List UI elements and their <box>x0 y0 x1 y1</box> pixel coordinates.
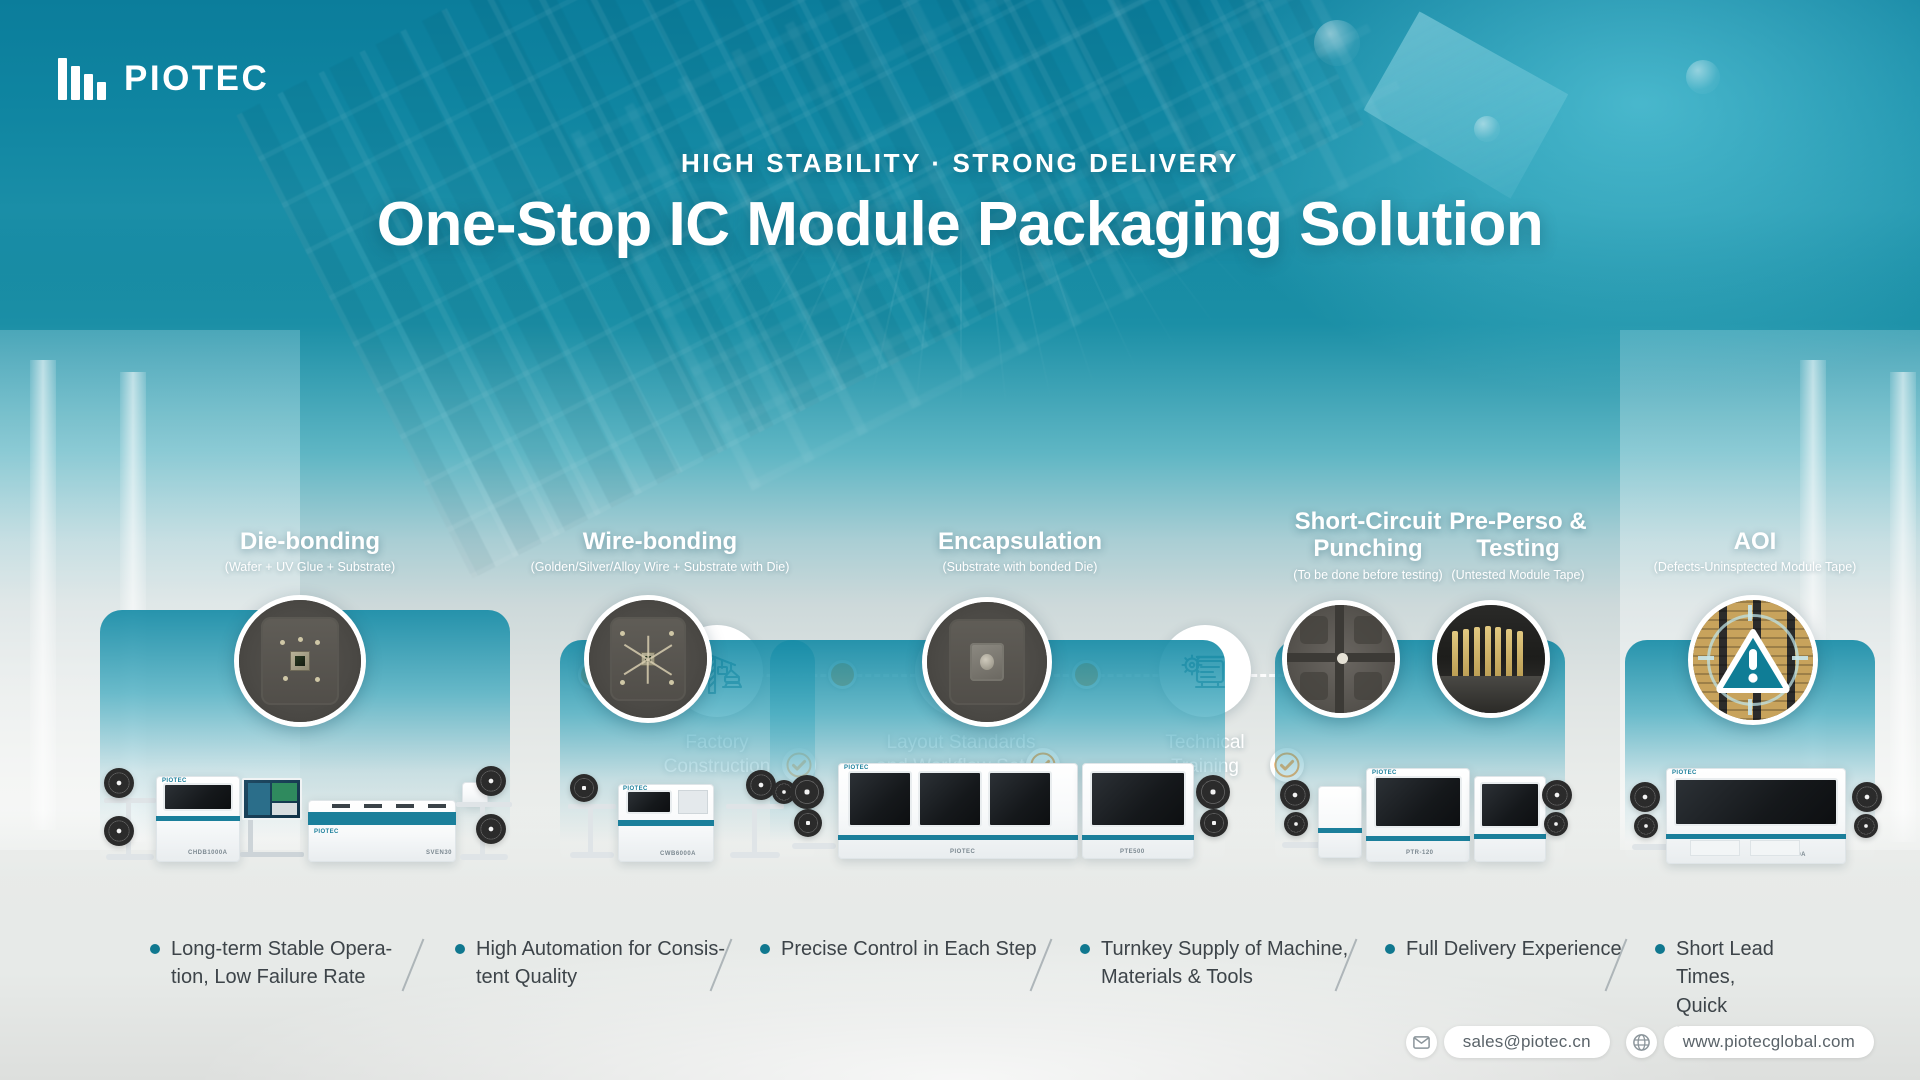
station-subtitle: (Substrate with bonded Die) <box>870 560 1170 576</box>
station-photo-wire-bonding <box>584 595 712 723</box>
bokeh-bubble <box>1686 60 1720 94</box>
machine-die-bonding-line: PIOTEC CHDB1000A PIOTEC SVEN30 <box>96 750 516 880</box>
benefit-item: Long-term Stable Opera- tion, Low Failur… <box>150 935 392 992</box>
station-title: Pre-Perso & Testing <box>1418 508 1618 563</box>
reel-icon <box>746 770 776 800</box>
reel-icon <box>1634 814 1658 838</box>
benefit-item: Turnkey Supply of Machine, Materials & T… <box>1080 935 1348 992</box>
station-heading-die-bonding: Die-bonding (Wafer + UV Glue + Substrate… <box>180 528 440 576</box>
station-heading-pre-perso-testing: Pre-Perso & Testing (Untested Module Tap… <box>1418 508 1618 583</box>
benefit-line: High Automation for Consis- <box>476 935 725 963</box>
benefit-line: Full Delivery Experience <box>1406 935 1622 963</box>
reel-icon <box>1544 812 1568 836</box>
bullet-dot-icon <box>1080 944 1090 954</box>
reel-icon <box>104 768 134 798</box>
machine-model-label: CWB6000A <box>660 851 696 857</box>
brand-name: PIOTEC <box>124 59 269 99</box>
bullet-dot-icon <box>760 944 770 954</box>
reel-icon <box>1542 780 1572 810</box>
footer-email[interactable]: sales@piotec.cn <box>1406 1026 1610 1058</box>
benefit-line: tion, Low Failure Rate <box>171 963 392 991</box>
station-subtitle: (Golden/Silver/Alloy Wire + Substrate wi… <box>500 560 820 576</box>
encapsulated-module-photo <box>927 602 1047 722</box>
station-title: Encapsulation <box>870 528 1170 555</box>
station-title: AOI <box>1630 528 1880 555</box>
footer-website-text[interactable]: www.piotecglobal.com <box>1664 1026 1874 1058</box>
machine-model-label: PTE500 <box>1120 849 1145 855</box>
bokeh-bubble <box>1474 116 1500 142</box>
station-subtitle: (Wafer + UV Glue + Substrate) <box>180 560 440 576</box>
substrate-with-die-photo <box>239 600 361 722</box>
reel-icon <box>476 766 506 796</box>
footer-email-text[interactable]: sales@piotec.cn <box>1444 1026 1610 1058</box>
benefit-line: Long-term Stable Opera- <box>171 935 392 963</box>
station-heading-aoi: AOI (Defects-Uninsptected Module Tape) <box>1630 528 1880 576</box>
bullet-dot-icon <box>1385 944 1395 954</box>
machine-punching-testing-line: PIOTEC PTR-120 <box>1280 740 1570 880</box>
reel-icon <box>1630 782 1660 812</box>
wire-bonded-die-photo <box>589 600 707 718</box>
machine-wire-bonding: PIOTEC CWB6000A <box>560 750 810 880</box>
benefit-line: Materials & Tools <box>1101 963 1348 991</box>
reel-icon <box>476 814 506 844</box>
station-photo-pre-perso-testing <box>1432 600 1550 718</box>
station-title: Die-bonding <box>180 528 440 555</box>
machine-brand-label: PIOTEC <box>162 778 187 784</box>
machine-encapsulation-line: PIOTEC PIOTEC PTE500 <box>790 735 1230 880</box>
brand-logo[interactable]: PIOTEC <box>58 58 269 100</box>
station-title: Wire-bonding <box>500 528 820 555</box>
benefit-line: tent Quality <box>476 963 725 991</box>
reel-icon <box>104 816 134 846</box>
reel-icon <box>1854 814 1878 838</box>
machine-brand-label: PIOTEC <box>623 786 648 792</box>
reel-icon <box>570 774 598 802</box>
station-photo-encapsulation <box>922 597 1052 727</box>
machine-brand-label: PIOTEC <box>1372 770 1397 776</box>
station-photo-die-bonding <box>234 595 366 727</box>
bullet-dot-icon <box>455 944 465 954</box>
station-photo-short-circuit-punching <box>1282 600 1400 718</box>
benefits-list: Long-term Stable Opera- tion, Low Failur… <box>150 935 1790 1025</box>
benefit-item: Precise Control in Each Step <box>760 935 1037 963</box>
benefit-item: High Automation for Consis- tent Quality <box>455 935 725 992</box>
machine-model-label: SVEN30 <box>426 850 452 856</box>
hero-kicker: HIGH STABILITY · STRONG DELIVERY <box>0 148 1920 179</box>
reel-icon <box>1852 782 1882 812</box>
footer-contact: sales@piotec.cn www.piotecglobal.com <box>1406 1026 1874 1058</box>
station-photo-aoi <box>1688 595 1818 725</box>
station-heading-encapsulation: Encapsulation (Substrate with bonded Die… <box>870 528 1170 576</box>
aoi-inspection-photo <box>1693 600 1813 720</box>
page-title: One-Stop IC Module Packaging Solution <box>0 189 1920 260</box>
machine-aoi: PIOTEC TSA80A <box>1630 740 1890 880</box>
benefit-item: Full Delivery Experience <box>1385 935 1622 963</box>
envelope-icon <box>1406 1027 1437 1058</box>
bullet-dot-icon <box>150 944 160 954</box>
benefit-divider <box>402 939 425 992</box>
benefit-line: Short Lead Times, Quick <box>1676 935 1790 1020</box>
warning-triangle-icon <box>1716 627 1790 693</box>
machine-model-label: CHDB1000A <box>188 850 228 856</box>
station-heading-wire-bonding: Wire-bonding (Golden/Silver/Alloy Wire +… <box>500 528 820 576</box>
reel-icon <box>1284 812 1308 836</box>
bars-logo-icon <box>58 58 106 100</box>
hero-text-block: HIGH STABILITY · STRONG DELIVERY One-Sto… <box>0 148 1920 260</box>
bokeh-bubble <box>1314 20 1360 66</box>
infographic-poster: PIOTEC HIGH STABILITY · STRONG DELIVERY … <box>0 0 1920 1080</box>
process-timeline: Factory Construction <box>0 325 1920 475</box>
machine-brand-label: PIOTEC <box>844 765 869 771</box>
bullet-dot-icon <box>1655 944 1665 954</box>
reel-icon <box>1200 809 1228 837</box>
machine-brand-label: PIOTEC <box>1672 770 1697 776</box>
punched-module-photo <box>1287 605 1395 713</box>
globe-icon <box>1626 1027 1657 1058</box>
station-subtitle: (Untested Module Tape) <box>1418 568 1618 584</box>
reel-icon <box>1196 775 1230 809</box>
reel-icon <box>790 775 824 809</box>
benefit-line: Turnkey Supply of Machine, <box>1101 935 1348 963</box>
machine-model-label: PIOTEC <box>950 849 975 855</box>
benefit-line: Precise Control in Each Step <box>781 935 1037 963</box>
machine-model-label: PTR-120 <box>1406 850 1434 856</box>
reel-icon <box>1280 780 1310 810</box>
test-connectors-photo <box>1437 605 1545 713</box>
footer-website[interactable]: www.piotecglobal.com <box>1626 1026 1874 1058</box>
machine-brand-label: PIOTEC <box>314 829 339 835</box>
reel-icon <box>794 809 822 837</box>
station-subtitle: (Defects-Uninsptected Module Tape) <box>1630 560 1880 576</box>
